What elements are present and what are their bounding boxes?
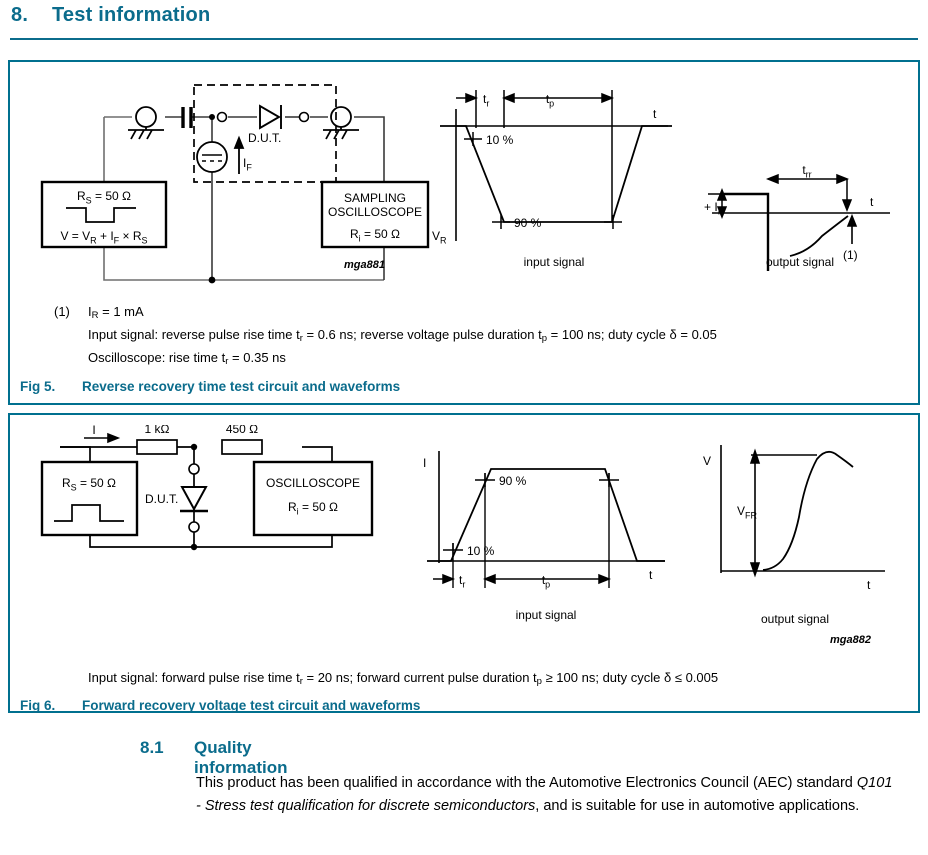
diode-symbol-fig6	[180, 487, 208, 511]
current-source-symbol	[197, 142, 227, 172]
quality-text-part2: , and is suitable for use in automotive …	[535, 798, 859, 814]
figure-6-input-waveform: I 90 % 10 %	[415, 433, 690, 633]
resistor-1k	[137, 440, 177, 454]
resistor-1k-label: 1 kΩ	[145, 425, 170, 436]
figure-6-caption: Fig 6.Forward recovery voltage test circ…	[20, 698, 420, 713]
input-signal-trace-fig5	[440, 126, 672, 222]
figure-6-output-waveform: V VFR t output signal mga882	[695, 433, 910, 648]
level-10-label-fig5: 10 %	[486, 133, 514, 147]
figure-5-circuit-diagram: D.U.T. IF RS = 50 Ω	[32, 82, 432, 292]
output-signal-caption-fig5: output signal	[766, 255, 834, 269]
recovery-curve-fig5	[790, 216, 848, 256]
trr-label-fig5: trr	[802, 163, 811, 180]
input-signal-caption-fig5: input signal	[524, 255, 585, 269]
figure-6-label: Fig 6.	[20, 698, 82, 713]
output-curve-fig6	[763, 452, 853, 570]
figure-5-note-3: Oscilloscope: rise time tr = 0.35 ns	[88, 350, 286, 367]
tr-dimension-fig6	[433, 575, 453, 583]
section-title: Test information	[52, 4, 210, 27]
drawing-id-mga881: mga881	[344, 259, 385, 271]
plus-if-label-fig5: + IF	[704, 200, 724, 217]
t-axis-label-fig5-out: t	[870, 195, 874, 209]
trr-dimension-fig5	[768, 175, 851, 210]
figure-5-label: Fig 5.	[20, 379, 82, 394]
drawing-id-mga882: mga882	[830, 634, 871, 646]
quality-information-paragraph: This product has been qualified in accor…	[196, 772, 896, 818]
if-current-arrow	[235, 138, 243, 174]
scope-label-line1: SAMPLING	[344, 191, 406, 205]
if-label-fig5: IF	[243, 156, 252, 173]
tp-label-fig6: tp	[542, 573, 550, 590]
v-axis-label-fig6: V	[703, 454, 711, 468]
figure-6-caption-text: Forward recovery voltage test circuit an…	[82, 698, 420, 713]
heading-rule	[10, 38, 918, 40]
note-ref-label-fig5: (1)	[843, 248, 858, 262]
figure-6-box: I 1 kΩ 450 Ω D.U.T. RS = 50 Ω	[8, 413, 920, 713]
figure-6-circuit-diagram: I 1 kΩ 450 Ω D.U.T. RS = 50 Ω	[32, 425, 402, 570]
section-number: 8.	[11, 4, 28, 27]
dut-label-fig6: D.U.T.	[145, 492, 178, 506]
tr-dimension-fig5	[456, 90, 476, 128]
datasheet-page: 8. Test information	[0, 0, 928, 855]
source-box-fig6	[42, 462, 137, 535]
input-signal-caption-fig6: input signal	[516, 608, 577, 622]
ground-symbol-right	[323, 127, 359, 139]
input-signal-trace-fig6	[427, 469, 665, 561]
output-signal-caption-fig6: output signal	[761, 612, 829, 626]
i-label-fig6: I	[92, 425, 95, 437]
level-90-label-fig6: 90 %	[499, 474, 527, 488]
figure-6-note: Input signal: forward pulse rise time tr…	[88, 670, 718, 687]
resistor-450	[222, 440, 262, 454]
t-axis-label-fig6-out: t	[867, 578, 871, 592]
figure-5-output-waveform: + IF trr (1) t output signal	[700, 76, 910, 271]
capacitor-symbol	[183, 107, 191, 128]
figure-5-box: D.U.T. IF RS = 50 Ω	[8, 60, 920, 405]
output-pulse-trace-fig5	[724, 194, 768, 271]
dut-label-fig5: D.U.T.	[248, 131, 281, 145]
subsection-number: 8.1	[140, 738, 164, 758]
resistor-450-label: 450 Ω	[226, 425, 258, 436]
tp-dimension-fig5	[504, 90, 612, 222]
figure-5-note-1: (1)IR = 1 mA	[54, 304, 144, 321]
note-reference-arrow-fig5	[848, 216, 856, 244]
tp-label-fig5: tp	[546, 92, 554, 109]
level-90-label-fig5: 90 %	[514, 216, 542, 230]
figure-5-input-waveform: tr tp 10 %	[428, 76, 678, 271]
figure-5-caption: Fig 5.Reverse recovery time test circuit…	[20, 379, 400, 394]
diode-symbol	[260, 105, 281, 129]
current-arrow-fig6	[84, 434, 118, 442]
ground-symbol-left	[128, 127, 164, 139]
scope-box-fig6	[254, 462, 372, 535]
vr-axis-label-fig5: VR	[432, 229, 447, 246]
t-axis-label-fig5: t	[653, 107, 657, 121]
page-title: 8. Test information	[0, 0, 928, 48]
scope-label-line2: OSCILLOSCOPE	[328, 205, 422, 219]
quality-text-part1: This product has been qualified in accor…	[196, 775, 857, 791]
i-axis-label-fig6: I	[423, 456, 426, 470]
figure-5-caption-text: Reverse recovery time test circuit and w…	[82, 379, 400, 394]
level-10-label-fig6: 10 %	[467, 544, 495, 558]
figure-5-note-2: Input signal: reverse pulse rise time tr…	[88, 327, 717, 344]
tr-label-fig6: tr	[459, 573, 465, 590]
t-axis-label-fig6: t	[649, 568, 653, 582]
scope-label-fig6: OSCILLOSCOPE	[266, 476, 360, 490]
tr-label-fig5: tr	[483, 92, 489, 109]
